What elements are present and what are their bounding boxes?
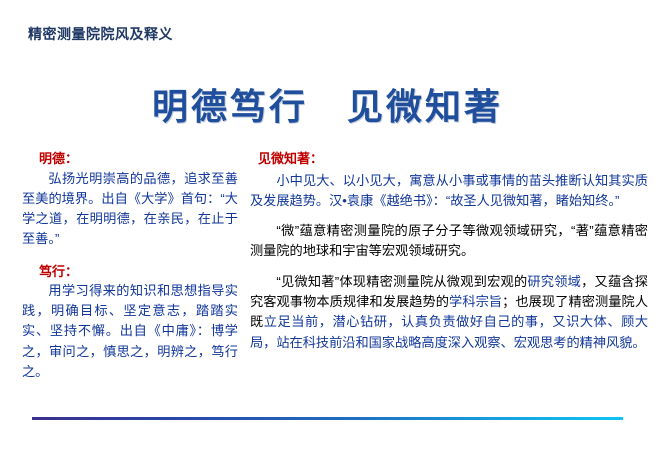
spirit-run-6-outlook: 立足当前，潜心钻研，认真负责做好自己的事，又识大体、顾大局，站在科技前沿和国家战… <box>250 314 648 349</box>
left-column: 明德： 弘扬光明崇高的品德，追求至善至美的境界。出自《大学》首句：“大学之道，在… <box>22 150 238 382</box>
paragraph-wei-zhu: “微”蕴意精密测量院的原子分子等微观领域研究，“著”蕴意精密测量院的地球和宇宙等… <box>250 221 648 262</box>
left-column-spacer <box>22 249 238 263</box>
right-column: 见微知著： 小中见大、以小见大，寓意从小事或事情的苗头推断认知其实质及发展趋势。… <box>250 150 648 353</box>
section-mingde: 明德： 弘扬光明崇高的品德，追求至善至美的境界。出自《大学》首句：“大学之道，在… <box>22 150 238 249</box>
spirit-run-2-research-field: 研究领域 <box>527 274 581 289</box>
section-body-mingde: 弘扬光明崇高的品德，追求至善至美的境界。出自《大学》首句：“大学之道，在明明德，… <box>22 169 238 249</box>
section-heading-duxing: 笃行： <box>39 263 238 281</box>
slide-header-label: 精密测量院院风及释义 <box>28 26 173 43</box>
right-column-spacer-1 <box>250 211 648 221</box>
paragraph-spirit: “见微知著”体现精密测量院从微观到宏观的研究领域，又蕴含探究客观事物本质规律和发… <box>250 272 648 354</box>
spirit-run-4-discipline-purpose: 学科宗旨 <box>449 294 502 309</box>
bottom-gradient-rule <box>32 417 623 420</box>
right-column-spacer-2 <box>250 262 648 272</box>
section-heading-mingde: 明德： <box>39 150 238 168</box>
spirit-run-1: “见微知著”体现精密测量院从微观到宏观的 <box>276 274 527 289</box>
section-heading-jianweizhizhu: 见微知著： <box>258 150 648 168</box>
content-columns: 明德： 弘扬光明崇高的品德，追求至善至美的境界。出自《大学》首句：“大学之道，在… <box>0 150 655 400</box>
slide-canvas: 精密测量院院风及释义 明德笃行 见微知著 明德： 弘扬光明崇高的品德，追求至善至… <box>0 0 655 449</box>
section-duxing: 笃行： 用学习得来的知识和思想指导实践，明确目标、坚定意志，踏踏实实、坚持不懈。… <box>22 263 238 382</box>
section-body-duxing: 用学习得来的知识和思想指导实践，明确目标、坚定意志，踏踏实实、坚持不懈。出自《中… <box>22 281 238 381</box>
slide-main-title: 明德笃行 见微知著 <box>0 78 655 130</box>
paragraph-definition: 小中见大、以小见大，寓意从小事或事情的苗头推断认知其实质及发展趋势。汉•袁康《越… <box>250 171 648 211</box>
